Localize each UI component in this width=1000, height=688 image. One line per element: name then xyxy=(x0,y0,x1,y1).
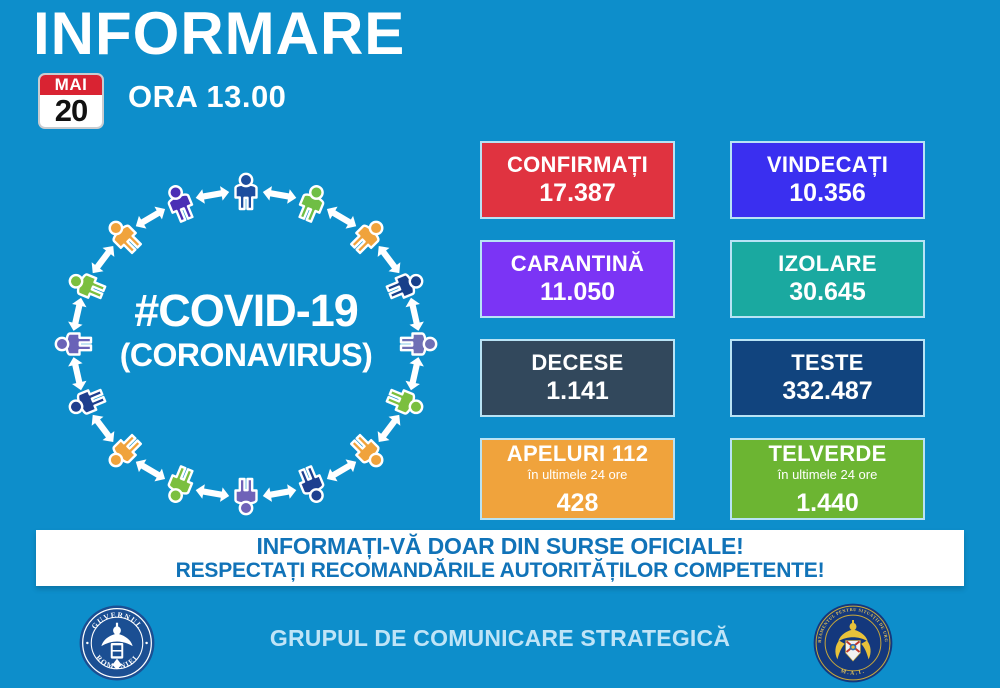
stat-value: 30.645 xyxy=(789,277,865,307)
double-arrow-icon xyxy=(323,203,360,233)
people-figures-group xyxy=(56,174,436,514)
person-figure xyxy=(66,386,107,419)
stat-label: IZOLARE xyxy=(778,251,877,277)
stat-sublabel: în ultimele 24 ore xyxy=(528,467,628,482)
stat-sublabel: în ultimele 24 ore xyxy=(778,467,878,482)
double-arrow-icon xyxy=(66,355,88,391)
calendar-month-label: MAI xyxy=(40,75,102,95)
stat-label: TESTE xyxy=(791,350,863,376)
stat-value: 428 xyxy=(557,488,599,518)
stat-value: 332.487 xyxy=(782,376,872,406)
person-figure xyxy=(385,386,426,419)
stat-label: CONFIRMAȚI xyxy=(507,152,648,178)
stat-value: 1.440 xyxy=(796,488,859,518)
person-figure xyxy=(164,465,197,506)
double-arrow-icon xyxy=(373,242,405,278)
double-arrow-icon xyxy=(194,185,230,205)
stat-value: 17.387 xyxy=(539,178,615,208)
stat-card-telverde: TELVERDEîn ultimele 24 ore1.440 xyxy=(730,438,925,520)
stat-label: VINDECAȚI xyxy=(767,152,888,178)
person-figure xyxy=(401,334,436,355)
stat-card-carantina: CARANTINĂ11.050 xyxy=(480,240,675,318)
calendar-day-label: 20 xyxy=(40,95,102,127)
dsu-mai-seal-icon: DEPARTAMENTUL PENTRU SITUAȚII DE URGENȚĂ… xyxy=(812,602,894,684)
banner-line-2: RESPECTAȚI RECOMANDĂRILE AUTORITĂȚILOR C… xyxy=(176,559,825,583)
people-circle-svg xyxy=(36,168,456,520)
official-sources-banner: INFORMAȚI-VĂ DOAR DIN SURSE OFICIALE! RE… xyxy=(36,530,964,586)
double-arrow-icon xyxy=(404,296,426,332)
stat-value: 10.356 xyxy=(789,178,865,208)
person-figure xyxy=(164,183,197,224)
stat-label: CARANTINĂ xyxy=(511,251,644,277)
double-arrow-icon xyxy=(132,203,169,233)
stat-card-apeluri-112: APELURI 112în ultimele 24 ore428 xyxy=(480,438,675,520)
calendar-date-icon: MAI 20 xyxy=(38,73,104,129)
person-figure xyxy=(236,174,257,209)
stat-label: TELVERDE xyxy=(768,441,886,467)
person-figure xyxy=(296,465,329,506)
stat-value: 11.050 xyxy=(540,277,615,307)
report-time-label: ORA 13.00 xyxy=(128,79,286,115)
stat-card-vindecati: VINDECAȚI10.356 xyxy=(730,141,925,219)
double-arrow-icon xyxy=(87,410,119,446)
person-figure xyxy=(56,334,91,355)
person-figure xyxy=(236,479,257,514)
double-arrow-icon xyxy=(404,355,426,391)
person-figure xyxy=(66,269,107,302)
double-arrow-icon xyxy=(323,455,360,485)
double-arrow-icon xyxy=(132,455,169,485)
banner-line-1: INFORMAȚI-VĂ DOAR DIN SURSE OFICIALE! xyxy=(256,533,743,559)
double-arrow-icon xyxy=(373,410,405,446)
covid-info-poster: INFORMARE MAI 20 ORA 13.00 #COVID-19 (CO… xyxy=(0,0,1000,688)
person-figure xyxy=(385,269,426,302)
double-arrow-icon xyxy=(194,483,230,503)
covid-people-circle-graphic: #COVID-19 (CORONAVIRUS) xyxy=(36,168,456,520)
stat-card-izolare: IZOLARE30.645 xyxy=(730,240,925,318)
stat-card-confirmati: CONFIRMAȚI17.387 xyxy=(480,141,675,219)
double-arrow-icon xyxy=(66,296,88,332)
page-title: INFORMARE xyxy=(33,2,405,65)
person-figure xyxy=(296,183,329,224)
stat-card-teste: TESTE332.487 xyxy=(730,339,925,417)
stat-label: APELURI 112 xyxy=(507,441,648,467)
double-arrow-icon xyxy=(87,242,119,278)
stat-value: 1.141 xyxy=(546,376,609,406)
double-arrow-icon xyxy=(262,185,298,205)
stat-card-decese: DECESE1.141 xyxy=(480,339,675,417)
double-arrow-icon xyxy=(262,483,298,503)
stat-label: DECESE xyxy=(531,350,623,376)
